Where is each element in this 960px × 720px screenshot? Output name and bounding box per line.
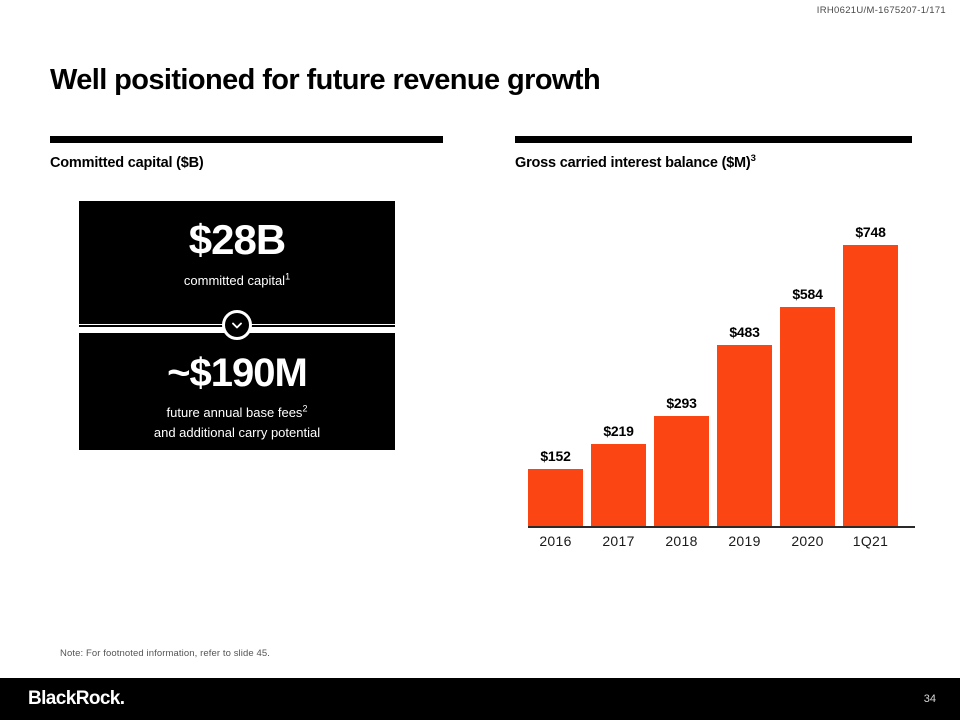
chart-plot-area: $152$219$293$483$584$748: [515, 200, 915, 526]
x-axis-tick-label: 1Q21: [843, 533, 898, 549]
bar: [780, 307, 835, 526]
footer-bar: BlackRock. 34: [0, 678, 960, 720]
left-panel-rule: [50, 136, 443, 143]
x-axis-tick-label: 2019: [717, 533, 772, 549]
bar-value-label: $293: [654, 395, 709, 411]
blackrock-logo: BlackRock.: [28, 688, 124, 710]
footnote-marker-1: 1: [285, 272, 290, 282]
bar-value-label: $584: [780, 286, 835, 302]
right-panel-heading: Gross carried interest balance ($M)3: [515, 155, 756, 171]
right-panel-heading-text: Gross carried interest balance ($M): [515, 155, 751, 171]
bar-column: $483: [717, 345, 772, 526]
bar-column: $219: [591, 444, 646, 526]
bar-column: $584: [780, 307, 835, 526]
stat-caption-text-line1: future annual base fees: [167, 405, 303, 420]
stat-caption-text: committed capital: [184, 273, 285, 288]
x-axis-tick-label: 2016: [528, 533, 583, 549]
stat-value-committed-capital: $28B: [79, 218, 395, 262]
bar-value-label: $483: [717, 324, 772, 340]
bar-column: $152: [528, 469, 583, 526]
bar: [717, 345, 772, 526]
stat-caption-future-fees: future annual base fees2 and additional …: [79, 403, 395, 443]
left-panel-heading: Committed capital ($B): [50, 155, 204, 171]
slide-footnote: Note: For footnoted information, refer t…: [60, 648, 270, 659]
bar-value-label: $152: [528, 448, 583, 464]
stat-caption-committed-capital: committed capital1: [79, 271, 395, 291]
check-circle-icon: [222, 310, 252, 340]
bar-column: $293: [654, 416, 709, 526]
stat-value-future-fees: ~$190M: [79, 352, 395, 394]
x-axis-tick-label: 2020: [780, 533, 835, 549]
stat-card-connector: [79, 324, 395, 325]
stat-caption-text-line2: and additional carry potential: [154, 425, 320, 440]
x-axis-tick-label: 2017: [591, 533, 646, 549]
x-axis-line: [528, 526, 915, 528]
bar: [591, 444, 646, 526]
document-id: IRH0621U/M-1675207-1/171: [817, 5, 946, 16]
x-axis-tick-label: 2018: [654, 533, 709, 549]
stat-card-future-fees: ~$190M future annual base fees2 and addi…: [79, 333, 395, 450]
left-panel-heading-text: Committed capital ($B): [50, 155, 204, 171]
footnote-marker-2: 2: [302, 404, 307, 414]
footnote-marker-3: 3: [751, 153, 756, 164]
right-panel-rule: [515, 136, 912, 143]
bar-value-label: $748: [843, 224, 898, 240]
bar: [843, 245, 898, 526]
bar-value-label: $219: [591, 423, 646, 439]
bar-column: $748: [843, 245, 898, 526]
bar: [528, 469, 583, 526]
bar-chart: $152$219$293$483$584$748 201620172018201…: [515, 200, 915, 560]
bar: [654, 416, 709, 526]
page-number: 34: [924, 693, 936, 705]
page-title: Well positioned for future revenue growt…: [50, 64, 600, 97]
stat-card-committed-capital: $28B committed capital1: [79, 201, 395, 327]
